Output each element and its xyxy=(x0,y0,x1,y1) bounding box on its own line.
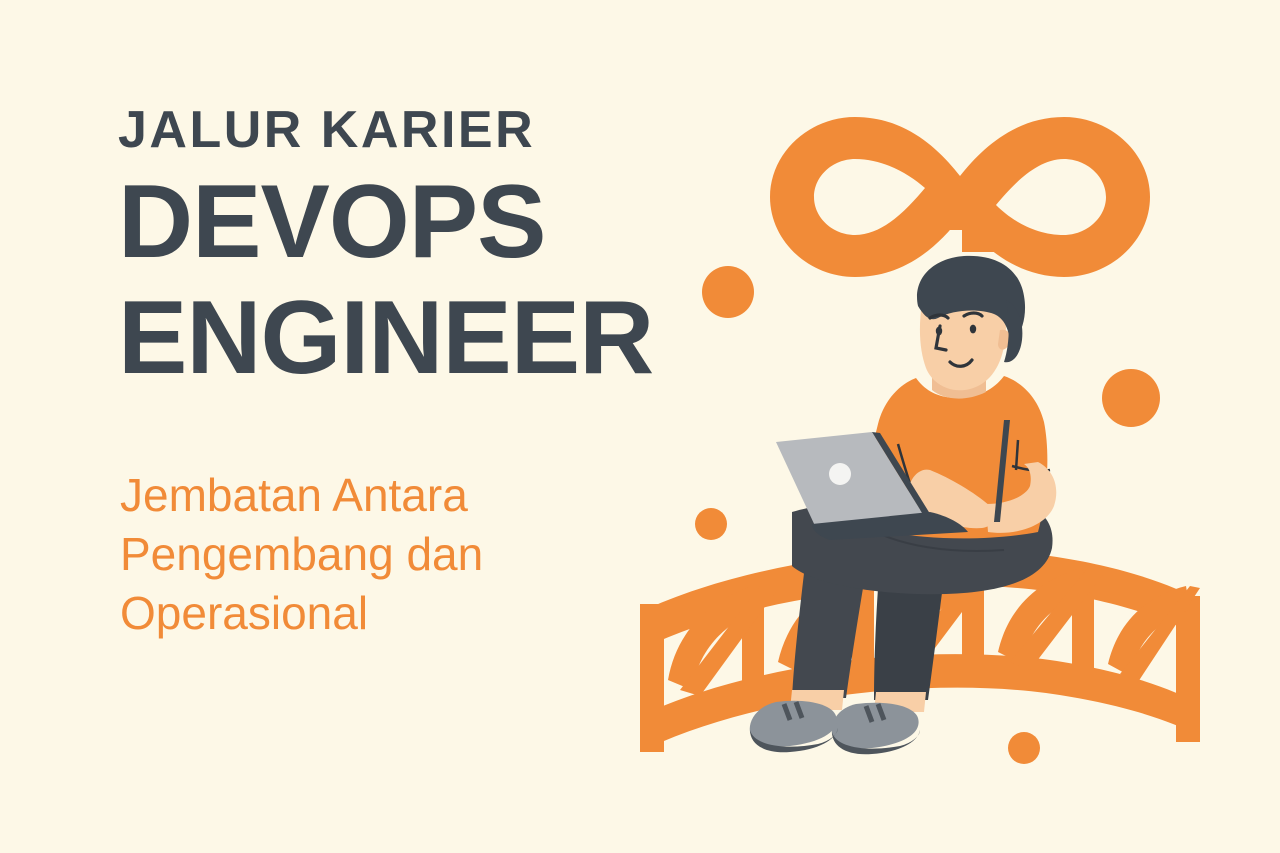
shoe-front xyxy=(750,701,838,752)
leg-front xyxy=(792,556,868,698)
arched-truss-bridge xyxy=(640,550,1200,752)
eyebrow-right xyxy=(964,313,982,316)
laptop-base xyxy=(812,512,968,540)
headline-block: JALUR KARIER DEVOPS ENGINEER xyxy=(118,104,738,390)
headline-line-2: ENGINEER xyxy=(118,288,738,390)
decor-dot-2 xyxy=(1102,369,1160,427)
decor-dot-4 xyxy=(1008,732,1040,764)
subtitle-text: Jembatan Antara Pengembang dan Operasion… xyxy=(120,466,550,643)
sleeve-seam-right xyxy=(1016,440,1018,470)
decor-dot-3 xyxy=(695,508,727,540)
laptop xyxy=(776,420,1010,540)
tshirt xyxy=(869,376,1048,538)
laptop-lid xyxy=(776,432,924,528)
hair-side xyxy=(1004,300,1022,362)
leg-back xyxy=(874,560,946,700)
forearm xyxy=(908,470,995,529)
laptop-screen-back xyxy=(994,420,1010,522)
arm-far xyxy=(986,462,1056,533)
eye-left xyxy=(936,327,942,336)
face-features xyxy=(930,313,982,366)
neck xyxy=(932,352,986,399)
eyebrow-left xyxy=(930,315,948,318)
ankle-back xyxy=(874,692,926,712)
nose xyxy=(936,326,946,350)
eye-right xyxy=(970,325,976,334)
head xyxy=(920,279,1006,390)
devops-infinity-loop-icon xyxy=(770,117,1150,277)
sleeve-hem-right xyxy=(1012,466,1050,471)
headline-line-1: DEVOPS xyxy=(118,172,738,274)
mouth xyxy=(950,360,972,366)
ankle-front xyxy=(790,690,844,710)
decor-dots-group xyxy=(695,266,1160,764)
laptop-logo-icon xyxy=(829,463,851,485)
sleeve-seam-left xyxy=(898,444,920,512)
infinity-notch xyxy=(948,196,1000,252)
poster-canvas: JALUR KARIER DEVOPS ENGINEER Jembatan An… xyxy=(0,0,1280,853)
laptop-lid-edge xyxy=(872,432,932,517)
ear xyxy=(998,330,1011,350)
thigh xyxy=(792,496,1053,595)
developer-with-laptop-illustration xyxy=(750,256,1057,754)
finger-lines xyxy=(900,502,934,527)
thigh-crease xyxy=(868,528,1004,551)
shoe-back xyxy=(832,703,920,754)
hair xyxy=(917,256,1025,346)
hand xyxy=(887,492,958,528)
eyebrow-text: JALUR KARIER xyxy=(118,104,738,156)
